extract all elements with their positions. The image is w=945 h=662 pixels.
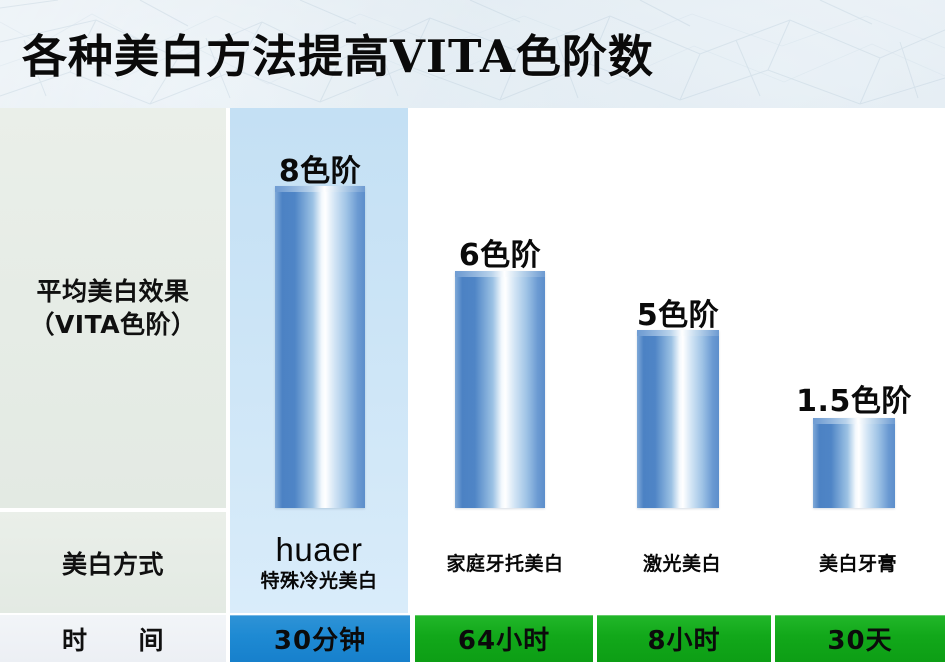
method-cell-4: 美白牙膏 [774, 512, 942, 613]
method-label-2: 家庭牙托美白 [446, 549, 563, 576]
row-label-method: 美白方式 [0, 512, 226, 613]
bar-2 [455, 271, 545, 508]
row-label-effect: 平均美白效果 （VITA色阶） [0, 108, 226, 508]
method-label-3: 激光美白 [643, 549, 721, 576]
method-label-4: 美白牙膏 [819, 549, 897, 576]
row-label-effect-line1: 平均美白效果 [29, 275, 196, 308]
method-cell-2: 家庭牙托美白 [416, 512, 594, 613]
time-row: 30分钟 64小时 8小时 30天 [226, 615, 945, 662]
method-cell-1: huaer 特殊冷光美白 [230, 512, 408, 613]
row-label-effect-line2: （VITA色阶） [29, 308, 196, 341]
time-cell-3: 8小时 [597, 615, 771, 662]
chart-panel: 平均美白效果 （VITA色阶） 美白方式 时 间 8色阶 6色阶 5色阶 1.5… [0, 108, 945, 662]
bar-label-4: 1.5色阶 [774, 376, 934, 420]
method-cell-3: 激光美白 [598, 512, 766, 613]
bar-label-3: 5色阶 [603, 290, 753, 334]
page-title: 各种美白方法提高VITA色阶数 [22, 8, 922, 96]
method-sub-1: 特殊冷光美白 [260, 570, 377, 593]
bar-1 [275, 186, 365, 508]
method-brand-1: huaer [276, 533, 363, 566]
row-label-time: 时 间 [0, 615, 226, 662]
time-cell-2: 64小时 [415, 615, 593, 662]
method-row: huaer 特殊冷光美白 家庭牙托美白 激光美白 美白牙膏 [226, 512, 945, 613]
bar-label-2: 6色阶 [425, 230, 575, 274]
plot-area: 8色阶 6色阶 5色阶 1.5色阶 [226, 108, 945, 508]
time-cell-1: 30分钟 [230, 615, 410, 662]
bar-3 [637, 330, 719, 508]
bar-label-1: 8色阶 [245, 146, 395, 190]
time-cell-4: 30天 [775, 615, 945, 662]
bar-4 [813, 418, 895, 508]
